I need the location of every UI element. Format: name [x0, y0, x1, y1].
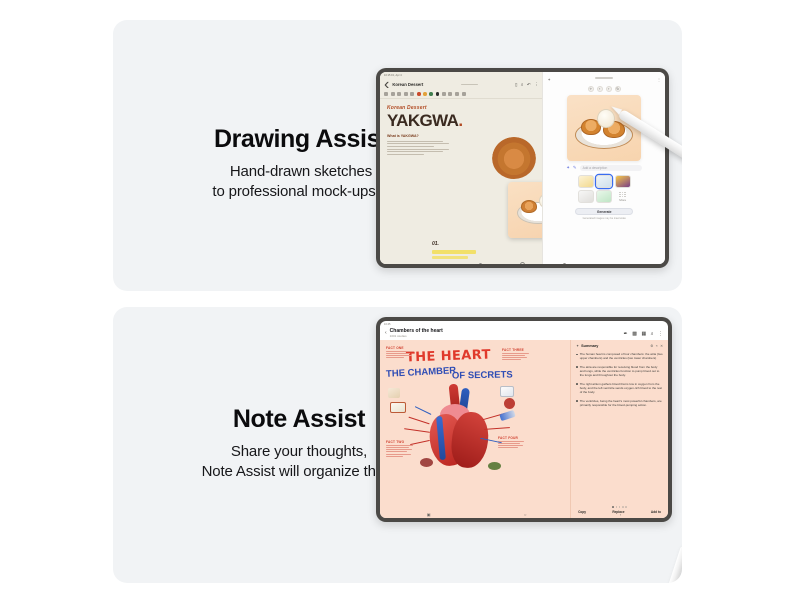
summary-title: Summary	[581, 344, 598, 348]
fact-three-label: FACT THREE	[502, 348, 532, 352]
style-thumb-pencil[interactable]	[578, 190, 594, 203]
ruler-icon[interactable]	[448, 92, 452, 96]
magic-icon[interactable]: ✧	[588, 86, 594, 92]
status-time-note: 10:45	[384, 323, 391, 326]
palette-swatch-amber[interactable]	[423, 92, 427, 96]
summary-text: The human heart is composed of four cham…	[580, 352, 663, 361]
more-icon[interactable]: ⋮	[658, 331, 663, 337]
pen-icon[interactable]: ✎	[573, 165, 577, 171]
style-more-label: More	[619, 198, 626, 202]
style-thumb-3d-cartoon[interactable]	[615, 175, 631, 188]
summary-actions: Copy Replace Add to	[576, 510, 663, 515]
summary-header: ✦ Summary ⚙ « ✕	[576, 344, 663, 348]
vessel-line	[408, 417, 429, 425]
pager-dot[interactable]	[616, 506, 618, 508]
heading-dot: .	[458, 111, 462, 130]
copy-button[interactable]: Copy	[578, 510, 586, 514]
summary-bullet: The right atrium gathers blood that is l…	[576, 382, 663, 395]
pen-icon[interactable]	[391, 92, 395, 96]
tablet-screen-note: 10:45 ‹ Chambers of the heart 1001 studi…	[380, 321, 668, 518]
doodle-virus	[504, 398, 515, 409]
note-body: THE HEART THE CHAMBER OF SECRETS FACT ON…	[380, 340, 668, 518]
text-icon[interactable]	[455, 92, 459, 96]
bookmark-icon[interactable]: ▯	[515, 82, 517, 88]
summary-bullet: The human heart is composed of four cham…	[576, 352, 663, 361]
doodle-bacteria	[488, 462, 501, 470]
replace-button[interactable]: Replace	[612, 510, 624, 514]
pager-dot[interactable]	[619, 506, 621, 508]
note-canvas[interactable]: Korean Dessert YAKGWA. What is YAKGWA? 0…	[380, 99, 542, 264]
subcopy-line-2: to professional mock-ups	[212, 182, 375, 203]
note-toolbar[interactable]	[380, 90, 542, 99]
undo-icon[interactable]: ↶	[527, 82, 531, 88]
lasso-icon[interactable]	[442, 92, 446, 96]
summary-header-actions: ⚙ « ✕	[650, 344, 663, 348]
heart-anatomy-illustration	[424, 386, 500, 474]
marker-icon[interactable]	[404, 92, 408, 96]
highlight-bar-1	[432, 250, 476, 254]
yakgwa-photo	[492, 137, 536, 179]
shape-icon[interactable]	[410, 92, 414, 96]
note-header: ‹ Chambers of the heart 1001 studies ✒ ▩…	[380, 327, 668, 340]
note-subtitle: 1001 studies	[390, 335, 443, 338]
fact-note-four: FACT FOUR	[498, 436, 528, 448]
note-header-actions: ✒ ▩ ▦ ⌕ ⋮	[624, 331, 663, 337]
pen-icon[interactable]: ✒	[624, 331, 628, 337]
search-icon[interactable]: ⌕	[651, 331, 654, 337]
pager-dot[interactable]	[622, 506, 624, 508]
vessel-line-blue	[415, 406, 432, 415]
generate-button[interactable]: Generate	[575, 208, 633, 215]
style-picker-grid: More	[578, 175, 631, 204]
summary-text: The ventricles, being the heart's most p…	[580, 399, 663, 408]
generate-chip-bar: ✧ ‹ › ↻	[588, 86, 621, 92]
s-pen-stylus-note[interactable]	[651, 546, 682, 583]
undo-icon[interactable]: ‹	[597, 86, 603, 92]
feature-card-note-assist: Note Assist Share your thoughts, Note As…	[113, 307, 682, 583]
doodle-paper	[500, 386, 514, 397]
close-icon[interactable]: ✕	[660, 344, 663, 348]
refresh-icon[interactable]: ↻	[615, 86, 621, 92]
palette-swatch-red[interactable]	[417, 92, 421, 96]
insert-icon[interactable]	[462, 92, 466, 96]
settings-icon[interactable]: ⚙	[650, 344, 653, 348]
grid-icon[interactable]: ▦	[641, 331, 646, 337]
sparkle-icon: ✦	[576, 344, 579, 348]
generate-panel-topbar: ✦ ⋮	[547, 77, 661, 82]
generate-footnote: Generated images may be inaccurate	[583, 217, 626, 220]
note-title-block: Chambers of the heart 1001 studies	[390, 329, 443, 338]
pager-dot[interactable]	[625, 506, 627, 508]
prompt-input[interactable]: Add a description	[580, 165, 643, 171]
more-icon[interactable]: ⋮	[534, 82, 538, 88]
ai-assist-icon[interactable]: ▩	[632, 331, 637, 337]
doodle-blood-cell	[420, 458, 433, 467]
note-app-pane: 10:15 Fri, Apr 4 ‹ Korean Dessert ▯ ⌕ ↶ …	[380, 72, 542, 264]
summary-bullet-list: The human heart is composed of four cham…	[576, 352, 663, 407]
heart-illustration-canvas[interactable]: THE HEART THE CHAMBER OF SECRETS FACT ON…	[380, 340, 570, 518]
feature-card-drawing-assist: Drawing Assist Hand-drawn sketches to pr…	[113, 20, 682, 291]
style-thumb-anime[interactable]	[596, 190, 612, 203]
note-body-text	[387, 141, 449, 156]
bullet-dot	[576, 400, 578, 402]
palette-swatch-green[interactable]	[429, 92, 433, 96]
canvas-title-right: OF SECRETS	[452, 369, 513, 381]
drag-handle[interactable]	[461, 84, 478, 86]
note-title: Korean Dessert	[392, 82, 423, 87]
chevron-left-icon[interactable]: ‹	[385, 331, 387, 336]
doodle-molecule	[414, 362, 426, 372]
bullet-dot	[576, 354, 578, 356]
style-more-button[interactable]: More	[615, 190, 631, 203]
collapse-icon[interactable]: «	[656, 344, 658, 348]
note-heading: YAKGWA.	[387, 112, 535, 129]
fact-note-two: FACT TWO	[386, 440, 416, 456]
doodle-test-tube	[499, 410, 515, 421]
style-thumb-sketch[interactable]	[596, 175, 612, 188]
more-dots-icon	[619, 192, 626, 197]
drawing-assist-panel: ✦ ⋮ ✧ ‹ › ↻	[542, 72, 665, 264]
pager-dot[interactable]	[612, 506, 614, 508]
add-to-button[interactable]: Add to	[651, 510, 661, 514]
bullet-dot	[576, 366, 578, 368]
summary-bullet: The ventricles, being the heart's most p…	[576, 399, 663, 408]
bullet-dot	[576, 383, 578, 385]
note-assist-summary-panel: ✦ Summary ⚙ « ✕ The human heart i	[570, 340, 668, 518]
fact-note-one: FACT ONE	[386, 346, 416, 358]
sketch-cookie	[521, 200, 537, 213]
sparkle-icon[interactable]: ✦	[547, 77, 550, 82]
summary-bullet: The atria are responsible for receiving …	[576, 365, 663, 378]
redo-icon[interactable]: ›	[606, 86, 612, 92]
search-icon[interactable]: ⌕	[521, 82, 523, 88]
doodle-cells	[388, 388, 400, 398]
style-thumb-watercolour[interactable]	[578, 175, 594, 188]
tablet-device-drawing: 10:15 Fri, Apr 4 ‹ Korean Dessert ▯ ⌕ ↶ …	[376, 68, 669, 268]
note-app-bar: ‹ Korean Dessert ▯ ⌕ ↶ ⋮	[380, 79, 542, 90]
status-bar: 10:15 Fri, Apr 4	[380, 72, 542, 79]
vessel-line	[404, 428, 430, 433]
page-root: Drawing Assist Hand-drawn sketches to pr…	[0, 0, 800, 600]
fact-note-three: FACT THREE	[502, 348, 532, 360]
generated-image-preview[interactable]	[567, 95, 641, 161]
summary-text: The atria are responsible for receiving …	[580, 365, 663, 378]
doodle-open-book	[390, 402, 406, 413]
note-section-number: 01.	[432, 241, 439, 247]
more-icon[interactable]: ⋮	[657, 77, 661, 82]
highlight-bar-2	[432, 256, 468, 259]
highlighter-icon[interactable]	[397, 92, 401, 96]
prompt-row: ✦ ✎ Add a description	[566, 165, 642, 171]
note-appbar-actions: ▯ ⌕ ↶ ⋮	[515, 82, 538, 88]
fact-four-label: FACT FOUR	[498, 436, 528, 440]
tablet-device-note: 10:45 ‹ Chambers of the heart 1001 studi…	[376, 317, 672, 522]
summary-text: The right atrium gathers blood that is l…	[580, 382, 663, 395]
palette-swatch-black[interactable]	[436, 92, 440, 96]
fact-one-label: FACT ONE	[386, 346, 416, 350]
tablet-screen-drawing: 10:15 Fri, Apr 4 ‹ Korean Dessert ▯ ⌕ ↶ …	[380, 72, 665, 264]
ai-sparkle-icon[interactable]: ✦	[566, 165, 570, 171]
eraser-icon[interactable]	[384, 92, 388, 96]
